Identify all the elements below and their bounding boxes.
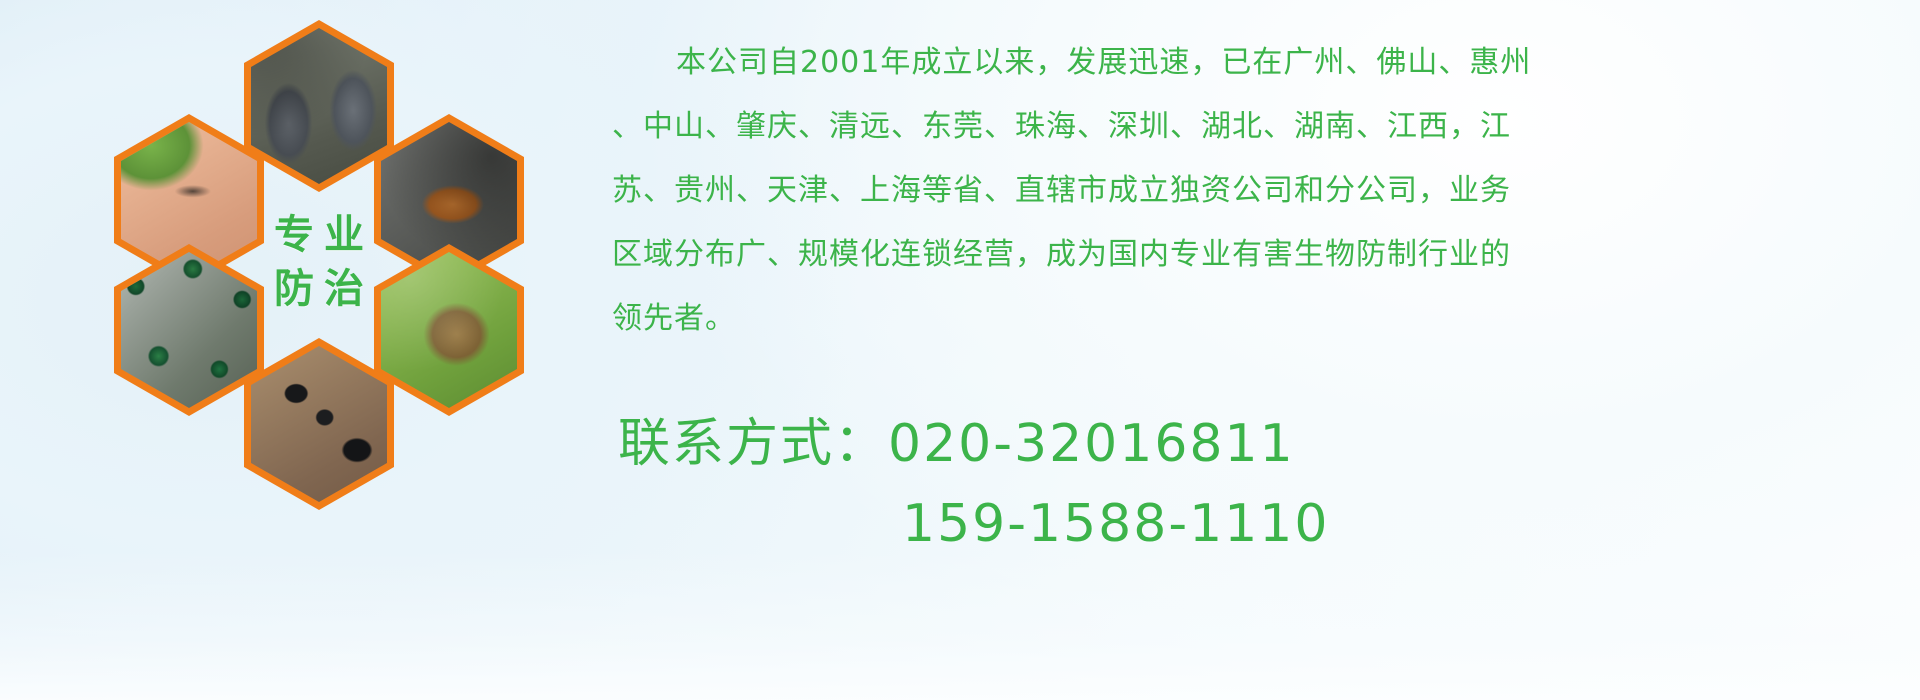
hex-tile-ant-photo <box>251 346 387 502</box>
description-line-3: 苏、贵州、天津、上海等省、直辖市成立独资公司和分公司，业务 <box>612 164 1902 218</box>
hex-tile-flies[interactable] <box>114 244 264 416</box>
description-line-2: 、中山、肇庆、清远、东莞、珠海、深圳、湖北、湖南、江西，江 <box>612 100 1902 154</box>
hex-center-label: 专业 防治 <box>244 176 394 348</box>
hex-tile-stinkbug-photo <box>381 252 517 408</box>
description-line-1: 本公司自2001年成立以来，发展迅速，已在广州、佛山、惠州 <box>612 36 1902 90</box>
hexagon-cluster: 专业 防治 <box>96 14 576 574</box>
banner-stage: 专业 防治 本公司自2001年成立以来，发展迅速，已在广州、佛山、惠州 、中山、… <box>0 0 1920 700</box>
hex-tile-stinkbug[interactable] <box>374 244 524 416</box>
company-description: 本公司自2001年成立以来，发展迅速，已在广州、佛山、惠州 、中山、肇庆、清远、… <box>612 36 1902 356</box>
hex-tile-flies-photo <box>121 252 257 408</box>
hex-tile-rats[interactable] <box>244 20 394 192</box>
contact-phone-primary: 联系方式：020-32016811 <box>618 404 1918 484</box>
description-line-4: 区域分布广、规模化连锁经营，成为国内专业有害生物防制行业的 <box>612 228 1902 282</box>
hex-tile-rats-photo <box>251 28 387 184</box>
description-line-5: 领先者。 <box>612 292 1902 346</box>
hex-tile-ant[interactable] <box>244 338 394 510</box>
hex-center-label-line-2: 防治 <box>264 269 374 309</box>
contact-phone-secondary: 159-1588-1110 <box>618 484 1918 564</box>
contact-block: 联系方式：020-32016811 159-1588-1110 <box>618 404 1918 564</box>
hex-center-label-line-1: 专业 <box>264 215 374 255</box>
